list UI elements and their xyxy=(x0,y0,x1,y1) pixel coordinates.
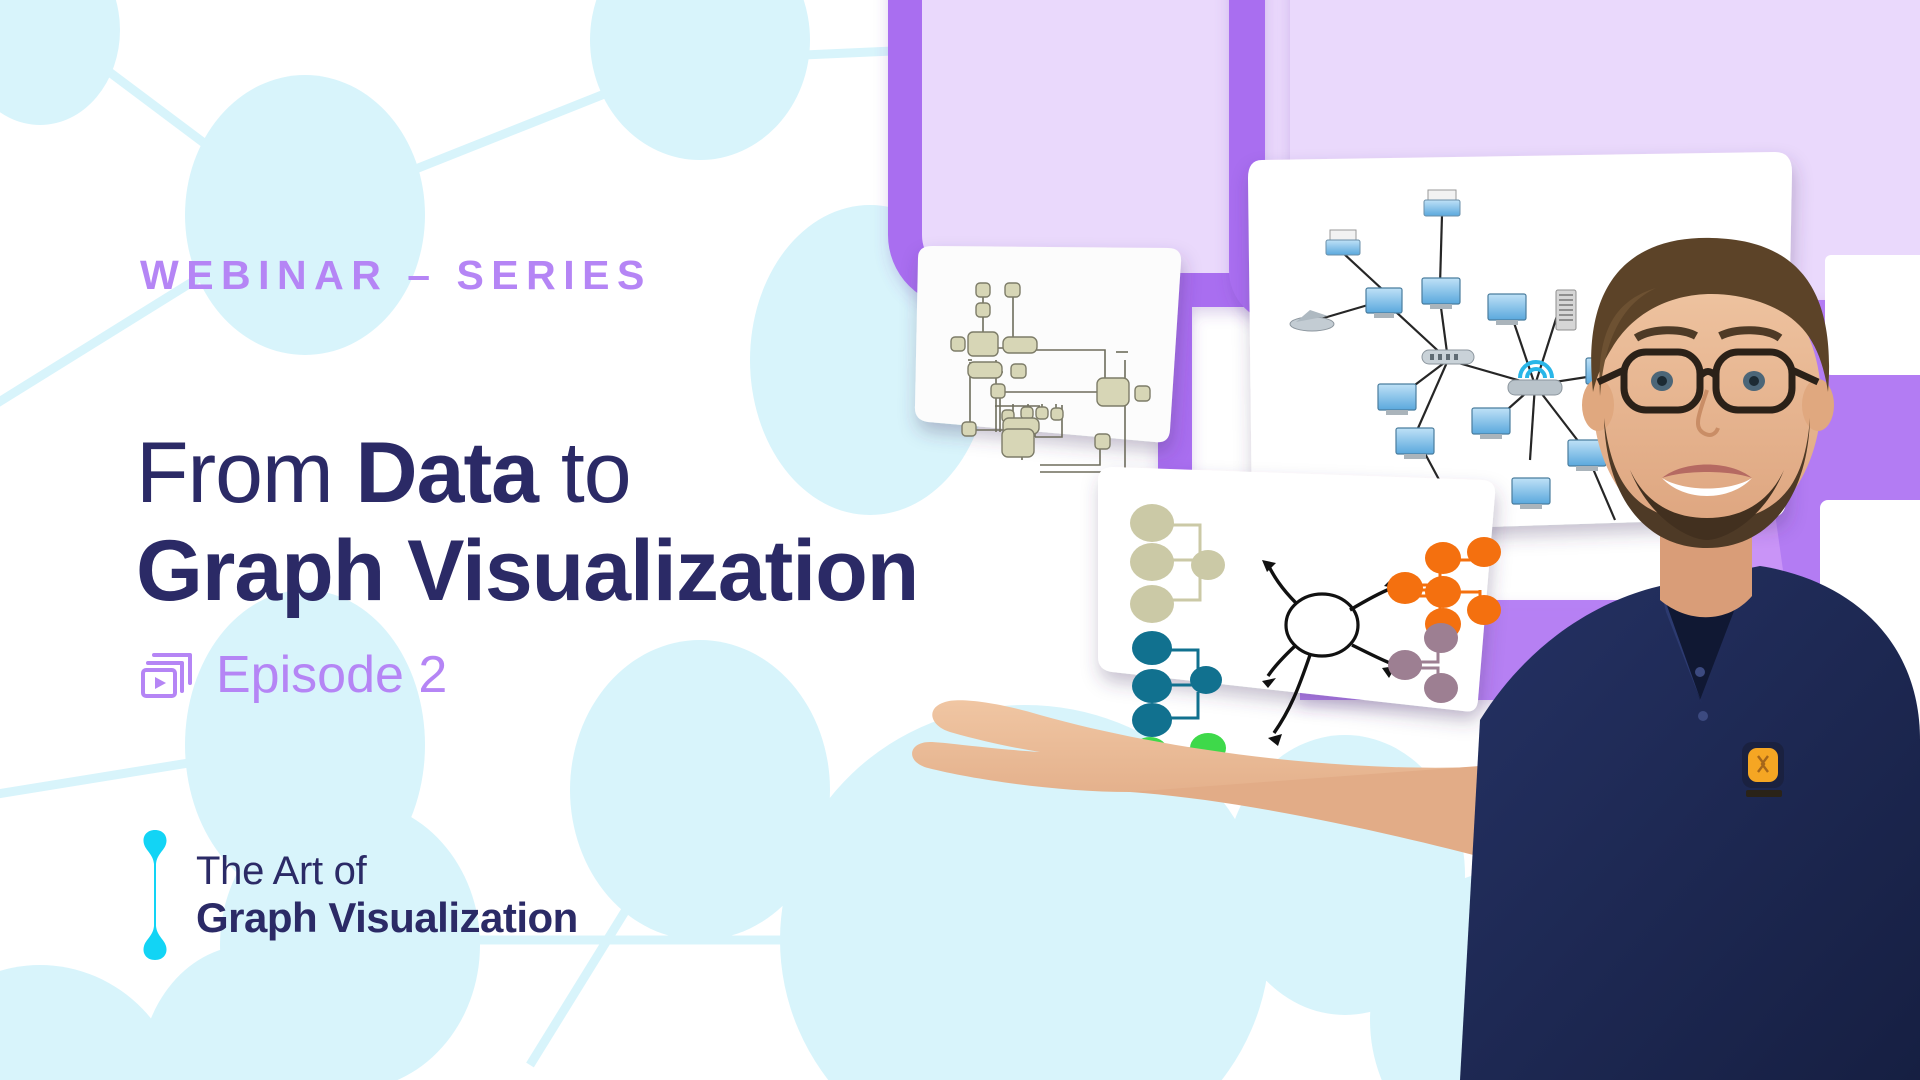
episode-label: Episode 2 xyxy=(216,645,447,705)
headline-line1-pre: From xyxy=(136,425,356,521)
video-stack-play-icon xyxy=(140,651,196,699)
presenter-shirt xyxy=(1460,566,1920,1080)
brand-logo-line1: The Art of xyxy=(196,849,578,894)
brand-logo: The Art of Graph Visualization xyxy=(140,820,578,970)
headline-line1-post: to xyxy=(538,425,631,521)
brand-logo-line2: Graph Visualization xyxy=(196,894,578,941)
eyebrow-label: WEBINAR – SERIES xyxy=(140,252,652,299)
graph-edge-mark xyxy=(140,820,170,970)
brand-logo-words: The Art of Graph Visualization xyxy=(196,849,578,941)
page-title: From Data to Graph Visualization xyxy=(136,430,918,614)
headline-line2: Graph Visualization xyxy=(136,528,918,614)
webinar-title-slide: WEBINAR – SERIES From Data to Graph Visu… xyxy=(0,0,1920,1080)
episode-badge: Episode 2 xyxy=(140,645,447,705)
headline-line1-bold: Data xyxy=(356,425,538,521)
presenter-head xyxy=(1582,238,1834,548)
presenter-arm xyxy=(912,700,1560,880)
